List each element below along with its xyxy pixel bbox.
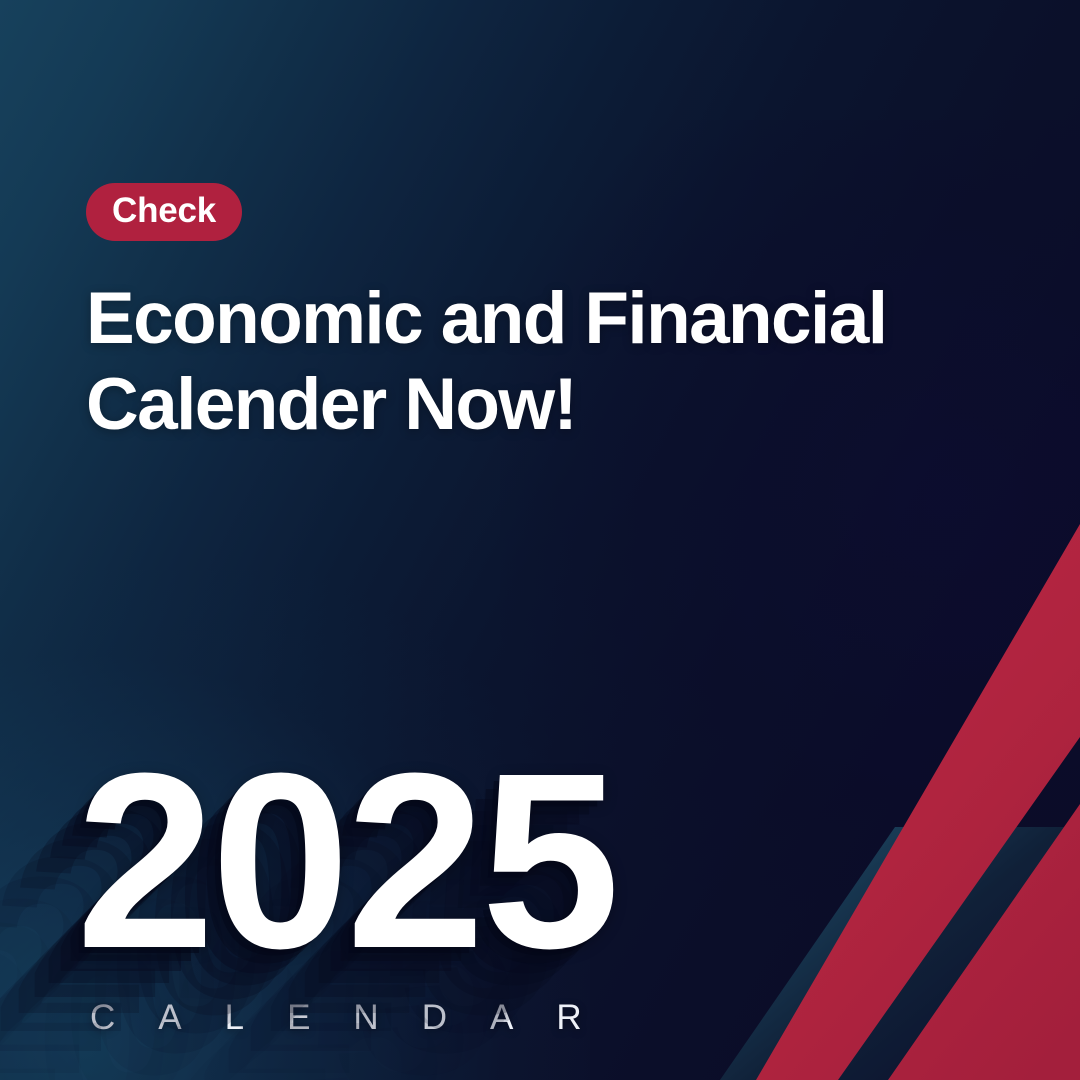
check-badge[interactable]: Check bbox=[86, 183, 242, 241]
headline-line-2: Calender Now! bbox=[86, 362, 1016, 448]
calendar-subtitle: CALENDAR bbox=[90, 1000, 625, 1035]
headline-line-1: Economic and Financial bbox=[86, 276, 1016, 362]
poster-canvas: Check Economic and Financial Calender No… bbox=[0, 0, 1080, 1080]
page-title: Economic and Financial Calender Now! bbox=[86, 276, 1016, 448]
poster-content: Check Economic and Financial Calender No… bbox=[0, 0, 1080, 1080]
year-number: 2025 bbox=[76, 736, 616, 986]
year-block: 2025 2025 bbox=[76, 736, 776, 986]
